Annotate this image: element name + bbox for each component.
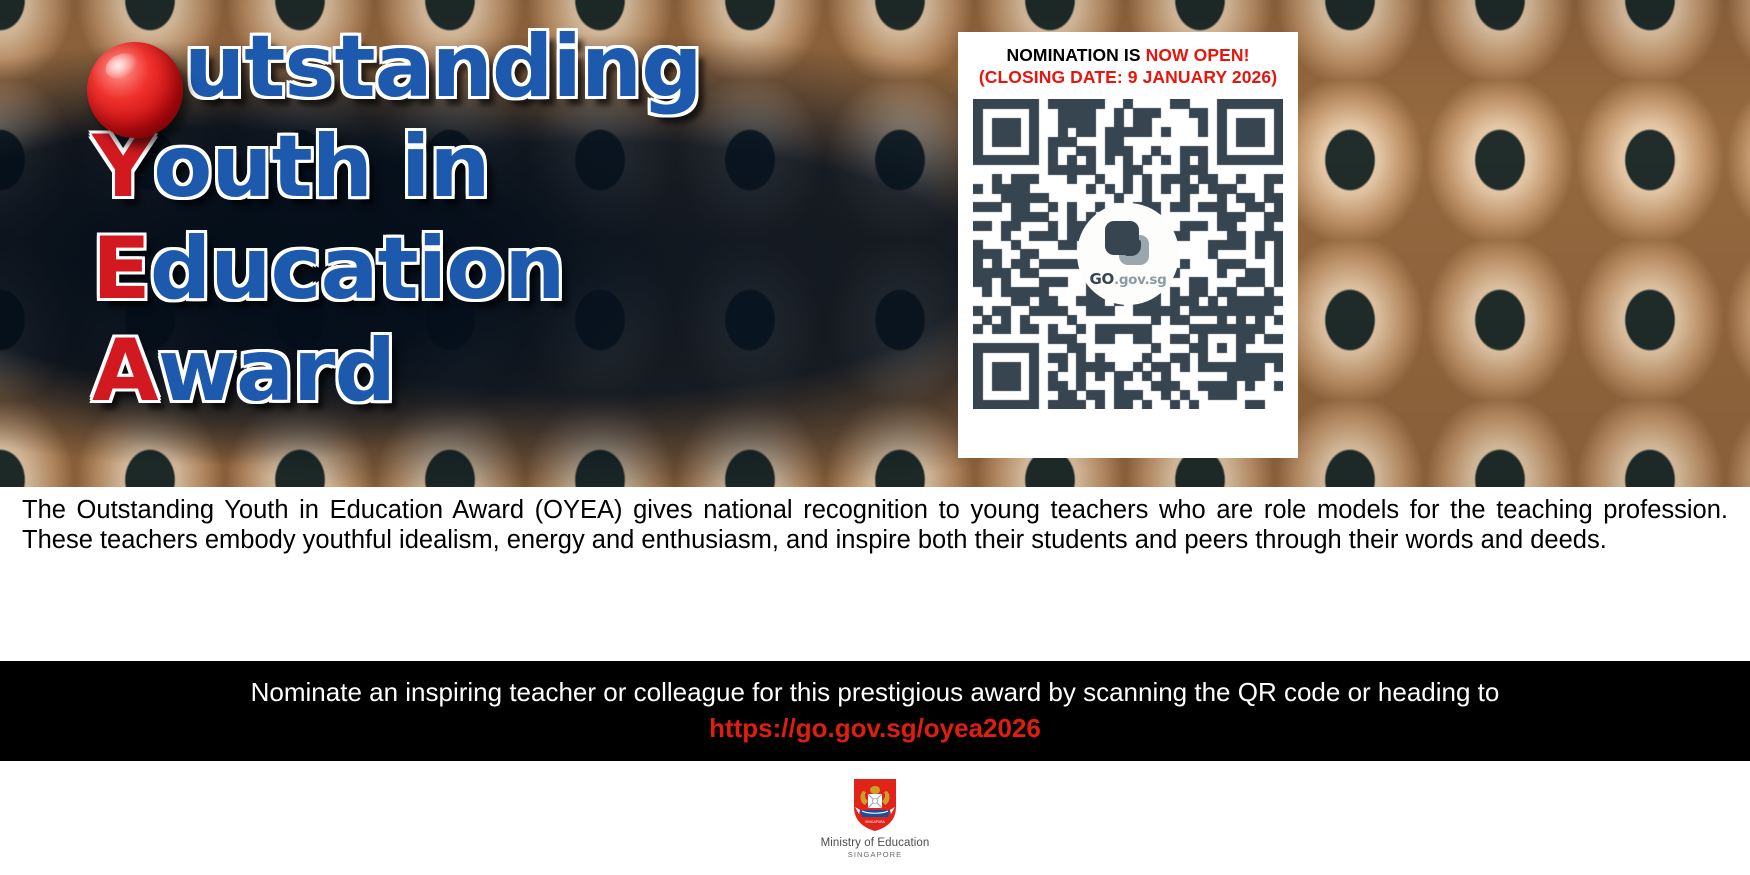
title-line-2-rest: outh in: [153, 128, 489, 207]
cta-url-link[interactable]: https://go.gov.sg/oyea2026: [709, 712, 1041, 746]
go-logo-bold: GO: [1090, 270, 1114, 288]
description-section: The Outstanding Youth in Education Award…: [0, 487, 1750, 661]
qr-nomination-panel: NOMINATION IS NOW OPEN! (CLOSING DATE: 9…: [958, 32, 1298, 458]
title-line-1-rest: utstanding: [184, 28, 702, 107]
red-ball-o-icon: [92, 28, 184, 124]
footer-section: SINGAPURA Ministry of Education SINGAPOR…: [0, 761, 1750, 875]
go-logo-light: .gov.sg: [1114, 272, 1167, 288]
title-line-3-rest: ducation: [150, 230, 565, 309]
cta-instruction: Nominate an inspiring teacher or colleag…: [251, 676, 1500, 709]
qr-headline-highlight: NOW OPEN!: [1146, 45, 1250, 65]
award-title: utstanding Youth in Education Award: [92, 28, 702, 430]
title-line-4: Award: [92, 332, 702, 430]
qr-headline-prefix: NOMINATION IS: [1006, 45, 1145, 65]
title-line-4-rest: ward: [158, 332, 395, 411]
qr-headline: NOMINATION IS NOW OPEN!: [1006, 44, 1249, 66]
go-logo-mark-icon: [1105, 221, 1151, 267]
moe-crest-icon: SINGAPURA: [852, 777, 898, 833]
title-line-2-lead: Y: [92, 128, 153, 207]
hero-banner: utstanding Youth in Education Award NOMI…: [0, 0, 1750, 487]
title-line-3: Education: [92, 230, 702, 328]
qr-code[interactable]: GO.gov.sg: [973, 99, 1283, 409]
title-line-2: Youth in: [92, 128, 702, 226]
call-to-action-bar: Nominate an inspiring teacher or colleag…: [0, 661, 1750, 761]
title-line-1: utstanding: [92, 28, 702, 126]
moe-country-label: SINGAPORE: [848, 850, 903, 859]
go-gov-sg-logo: GO.gov.sg: [1077, 203, 1179, 305]
qr-closing-date: (CLOSING DATE: 9 JANUARY 2026): [979, 66, 1277, 88]
moe-organisation-label: Ministry of Education: [821, 837, 930, 849]
oyea-poster: utstanding Youth in Education Award NOMI…: [0, 0, 1750, 875]
description-paragraph: The Outstanding Youth in Education Award…: [22, 496, 1728, 556]
svg-text:SINGAPURA: SINGAPURA: [865, 820, 885, 824]
title-line-3-lead: E: [92, 230, 150, 309]
title-line-4-lead: A: [92, 332, 158, 411]
go-logo-wordmark: GO.gov.sg: [1090, 270, 1167, 288]
